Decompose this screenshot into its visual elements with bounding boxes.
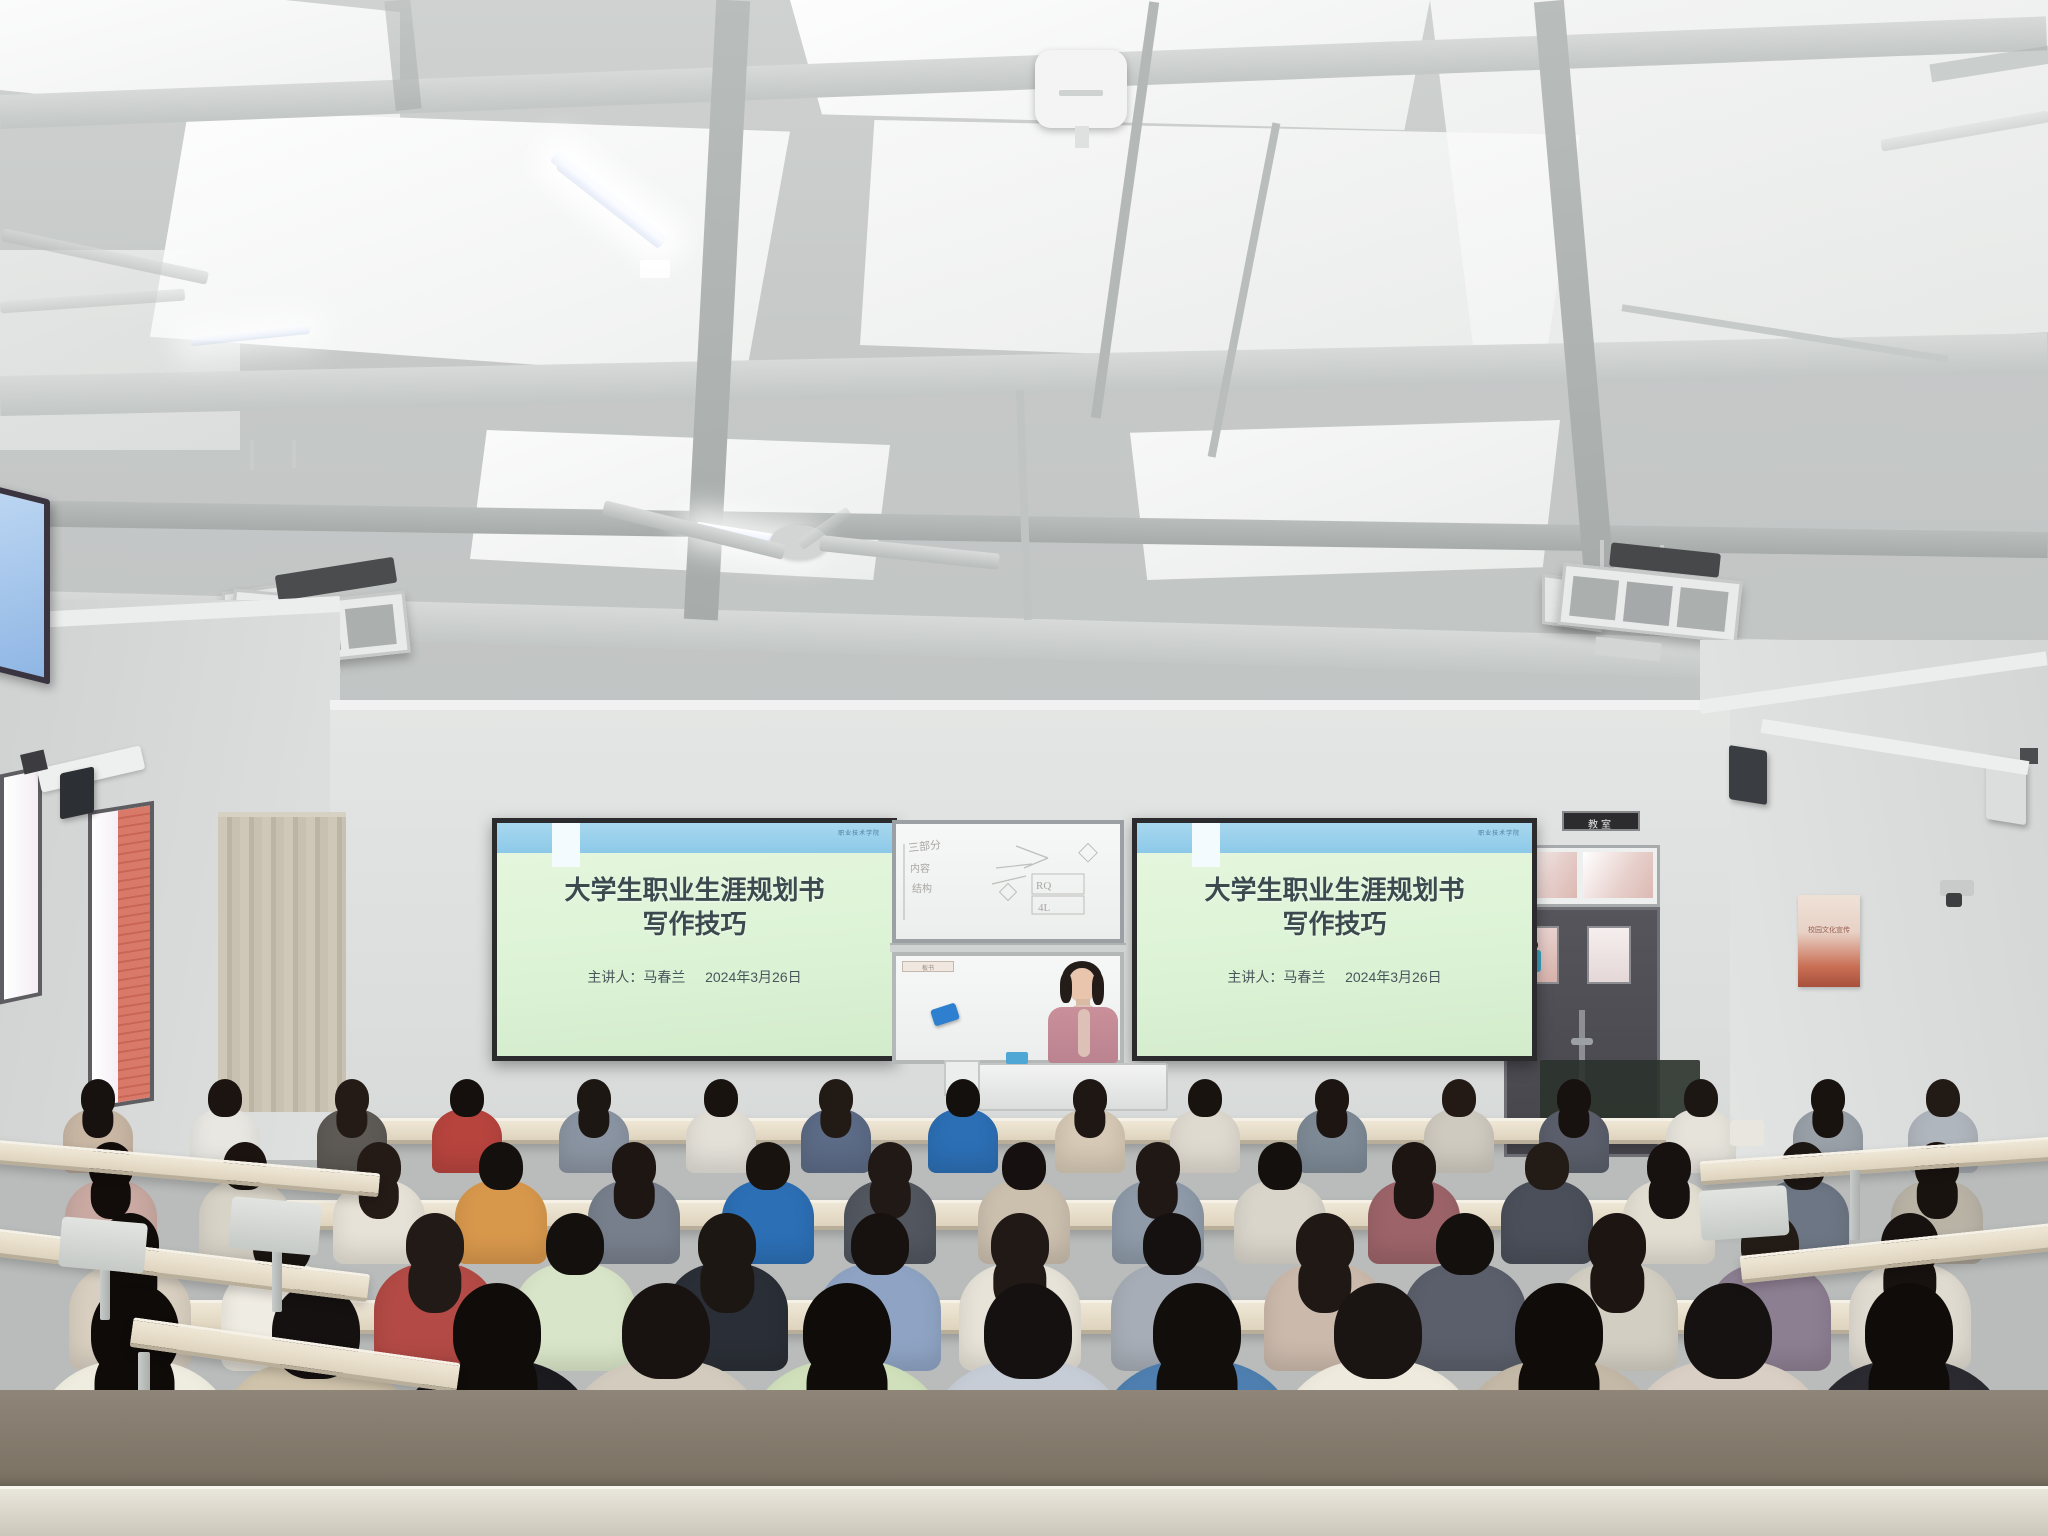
student-hair-drape [1812,1103,1843,1138]
student-hair-drape [82,1103,113,1138]
student-head [946,1079,980,1117]
student-hair-drape [1917,1173,1957,1219]
student-head [1188,1079,1222,1117]
slide-title-line1: 大学生职业生涯规划书 [1137,874,1532,907]
slide-presenter: 主讲人：马春兰 [1227,967,1325,987]
student-head [1525,1142,1569,1190]
door-sign-label: 教室 [1564,816,1638,831]
seat-back[interactable] [58,1216,148,1273]
presenter-hair-side [1092,973,1104,1005]
wall-poster: 校园文化宣传 [1798,895,1860,987]
window-left [88,801,154,1111]
seat-back[interactable] [228,1196,322,1256]
slide-logo-text: 职业技术学院 [838,828,880,837]
whiteboard-diagram [896,824,1128,947]
student-hair-drape [614,1173,654,1219]
student-head [1442,1079,1476,1117]
whiteboard-label: 板书 [902,961,954,972]
slide-title: 大学生职业生涯规划书 写作技巧 [497,874,892,941]
whiteboard-label-text: 板书 [903,963,953,972]
student-hair-drape [91,1173,131,1219]
slide-meta: 主讲人：马春兰 2024年3月26日 [1137,967,1532,987]
wall-speaker [1729,745,1767,805]
projector-mount-rod [250,440,254,470]
slide-date: 2024年3月26日 [1345,967,1442,987]
student-hair-drape [1558,1103,1589,1138]
door-handle[interactable] [1571,1038,1593,1045]
door-window [1587,926,1631,984]
slide-title-line1: 大学生职业生涯规划书 [497,874,892,907]
slide-title: 大学生职业生涯规划书 写作技巧 [1137,874,1532,941]
slide-logo-text: 职业技术学院 [1478,828,1520,837]
slide-right: 职业技术学院 大学生职业生涯规划书 写作技巧 主讲人：马春兰 2024年3月26… [1137,823,1532,1056]
student-hair-drape [1393,1173,1433,1219]
student-head [622,1283,710,1379]
student-head [1684,1079,1718,1117]
front-bench-rail [0,1486,2048,1536]
left-projection-screen[interactable]: 职业技术学院 大学生职业生涯规划书 写作技巧 主讲人：马春兰 2024年3月26… [492,818,897,1061]
whiteboard-upper[interactable]: 三部分 内容 结构 RQ 4L [892,820,1124,943]
wifi-access-point-icon [1035,50,1127,128]
student-head [1684,1283,1772,1379]
whiteboard-tray [890,943,1126,952]
fluorescent-light-end [640,260,670,278]
desk-bag [1730,1120,1764,1146]
slide-title-line2: 写作技巧 [1137,908,1532,941]
podium-device [1006,1052,1028,1064]
slide-notch [552,823,580,867]
student-head [208,1079,242,1117]
presenter-inner-top [1078,1009,1090,1057]
student-hair-drape [1074,1103,1105,1138]
student-head [1002,1142,1046,1190]
slide-date: 2024年3月26日 [705,967,802,987]
wall-speaker [60,766,94,819]
presenter-hair-side [1060,973,1072,1003]
slide-presenter: 主讲人：马春兰 [587,967,685,987]
slide-meta: 主讲人：马春兰 2024年3月26日 [497,967,892,987]
student-head [450,1079,484,1117]
student-head [1436,1213,1494,1275]
window-left [0,766,42,1005]
student-head [546,1213,604,1275]
ap-mount [1075,126,1089,148]
slide-notch [1192,823,1220,867]
ceiling-panel [470,430,890,580]
student-head [1926,1079,1960,1117]
slide-title-line2: 写作技巧 [497,908,892,941]
desk-leg [1850,1170,1860,1240]
wall-moulding [330,700,1730,710]
right-projection-screen[interactable]: 职业技术学院 大学生职业生涯规划书 写作技巧 主讲人：马春兰 2024年3月26… [1132,818,1537,1061]
student-hair-drape [336,1103,367,1138]
curtain [218,812,346,1112]
seat-back[interactable] [1698,1185,1789,1241]
student-head [851,1213,909,1275]
classroom-photo-scene: 校园文化宣传 教室 职业技术学院 大学生职业生涯规划书 写作技巧 主讲人：马春兰 [0,0,2048,1536]
wall-monitor[interactable] [0,484,50,684]
student-head [1143,1213,1201,1275]
student-head [479,1142,523,1190]
conduit-pipe [1016,390,1032,620]
student-hair-drape [820,1103,851,1138]
student-hair-drape [578,1103,609,1138]
student-hair-drape [1649,1173,1689,1219]
student-head [704,1079,738,1117]
projector-mount-rod [1600,540,1604,570]
slide-left: 职业技术学院 大学生职业生涯规划书 写作技巧 主讲人：马春兰 2024年3月26… [497,823,892,1056]
security-camera-lens [1946,893,1962,907]
whiteboard-surface: 三部分 内容 结构 RQ 4L [896,824,1120,939]
student-head [746,1142,790,1190]
student-hair-drape [1316,1103,1347,1138]
student-hair-drape [870,1173,910,1219]
door-room-sign: 教室 [1562,811,1640,831]
presenter [1020,955,1160,1075]
poster-text: 校园文化宣传 [1798,925,1860,935]
projector-mount-rod [292,440,296,468]
student-head [1258,1142,1302,1190]
student-head [984,1283,1072,1379]
student-hair-drape [1138,1173,1178,1219]
ceiling-panel [1130,420,1560,580]
student-head [1334,1283,1422,1379]
